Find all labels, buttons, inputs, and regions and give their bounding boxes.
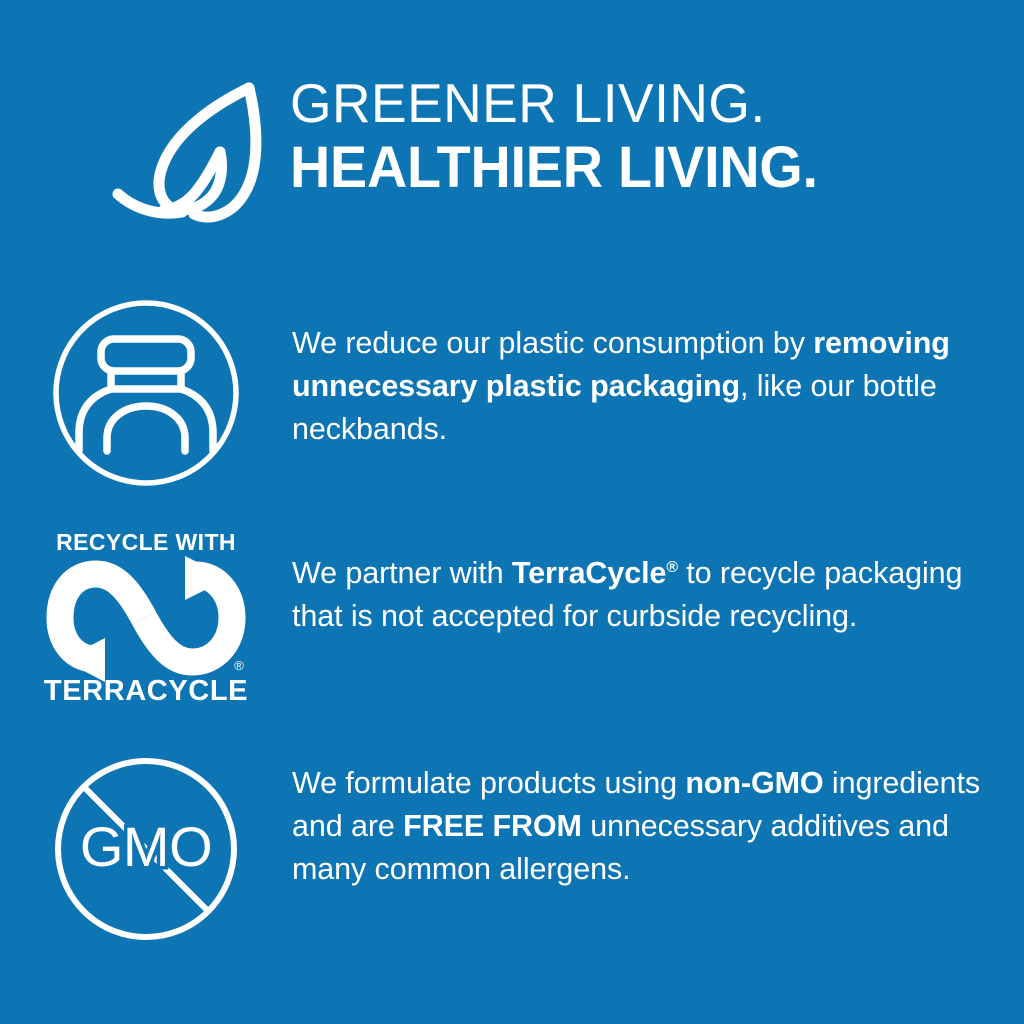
bottle-neckband-icon [49,296,243,490]
row-non-gmo: GMO We formulate products using non-GMO … [0,752,1024,946]
header: GREENER LIVING. HEALTHIER LIVING. [0,68,1024,228]
row-plastic-reduction: We reduce our plastic consumption by rem… [0,296,1024,490]
greener-living-infographic: GREENER LIVING. HEALTHIER LIVING. [0,0,1024,1024]
row-2-text: We partner with TerraCycle® to recycle p… [292,530,1024,638]
no-gmo-icon: GMO [49,752,243,946]
row-3-text-part-3: FREE FROM [403,809,582,843]
row-3-text-part-1: non-GMO [685,766,823,800]
row-2-text-part-1: TerraCycle [512,556,666,590]
row-2-text-part-0: We partner with [292,556,512,590]
row-1-text-part-0: We reduce our plastic consumption by [292,326,813,360]
row-3-text-part-0: We formulate products using [292,766,685,800]
terracycle-top-label-text: RECYCLE WITH [56,529,236,555]
row-1-text: We reduce our plastic consumption by rem… [292,296,1024,451]
row-2-registered-mark: ® [666,559,678,576]
terracycle-bottom-label-text: TERRACYCLE [44,675,248,707]
row-3-icon-cell: GMO [0,752,292,946]
no-gmo-icon-label: GMO [80,815,212,878]
row-3-text: We formulate products using non-GMO ingr… [292,752,1024,891]
headline-line-2: HEALTHIER LIVING. [290,136,818,200]
headline-line-1: GREENER LIVING. [290,72,823,134]
headline-block: GREENER LIVING. HEALTHIER LIVING. [290,68,840,200]
row-terracycle-partnership: RECYCLE WITH ® TERRACYCLE [0,530,1024,705]
row-2-icon-cell: RECYCLE WITH ® TERRACYCLE [0,530,292,705]
terracycle-logo: RECYCLE WITH ® TERRACYCLE [43,530,249,705]
terracycle-logo-registered-mark: ® [234,658,244,673]
leaf-icon [108,76,276,228]
row-1-icon-cell [0,296,292,490]
